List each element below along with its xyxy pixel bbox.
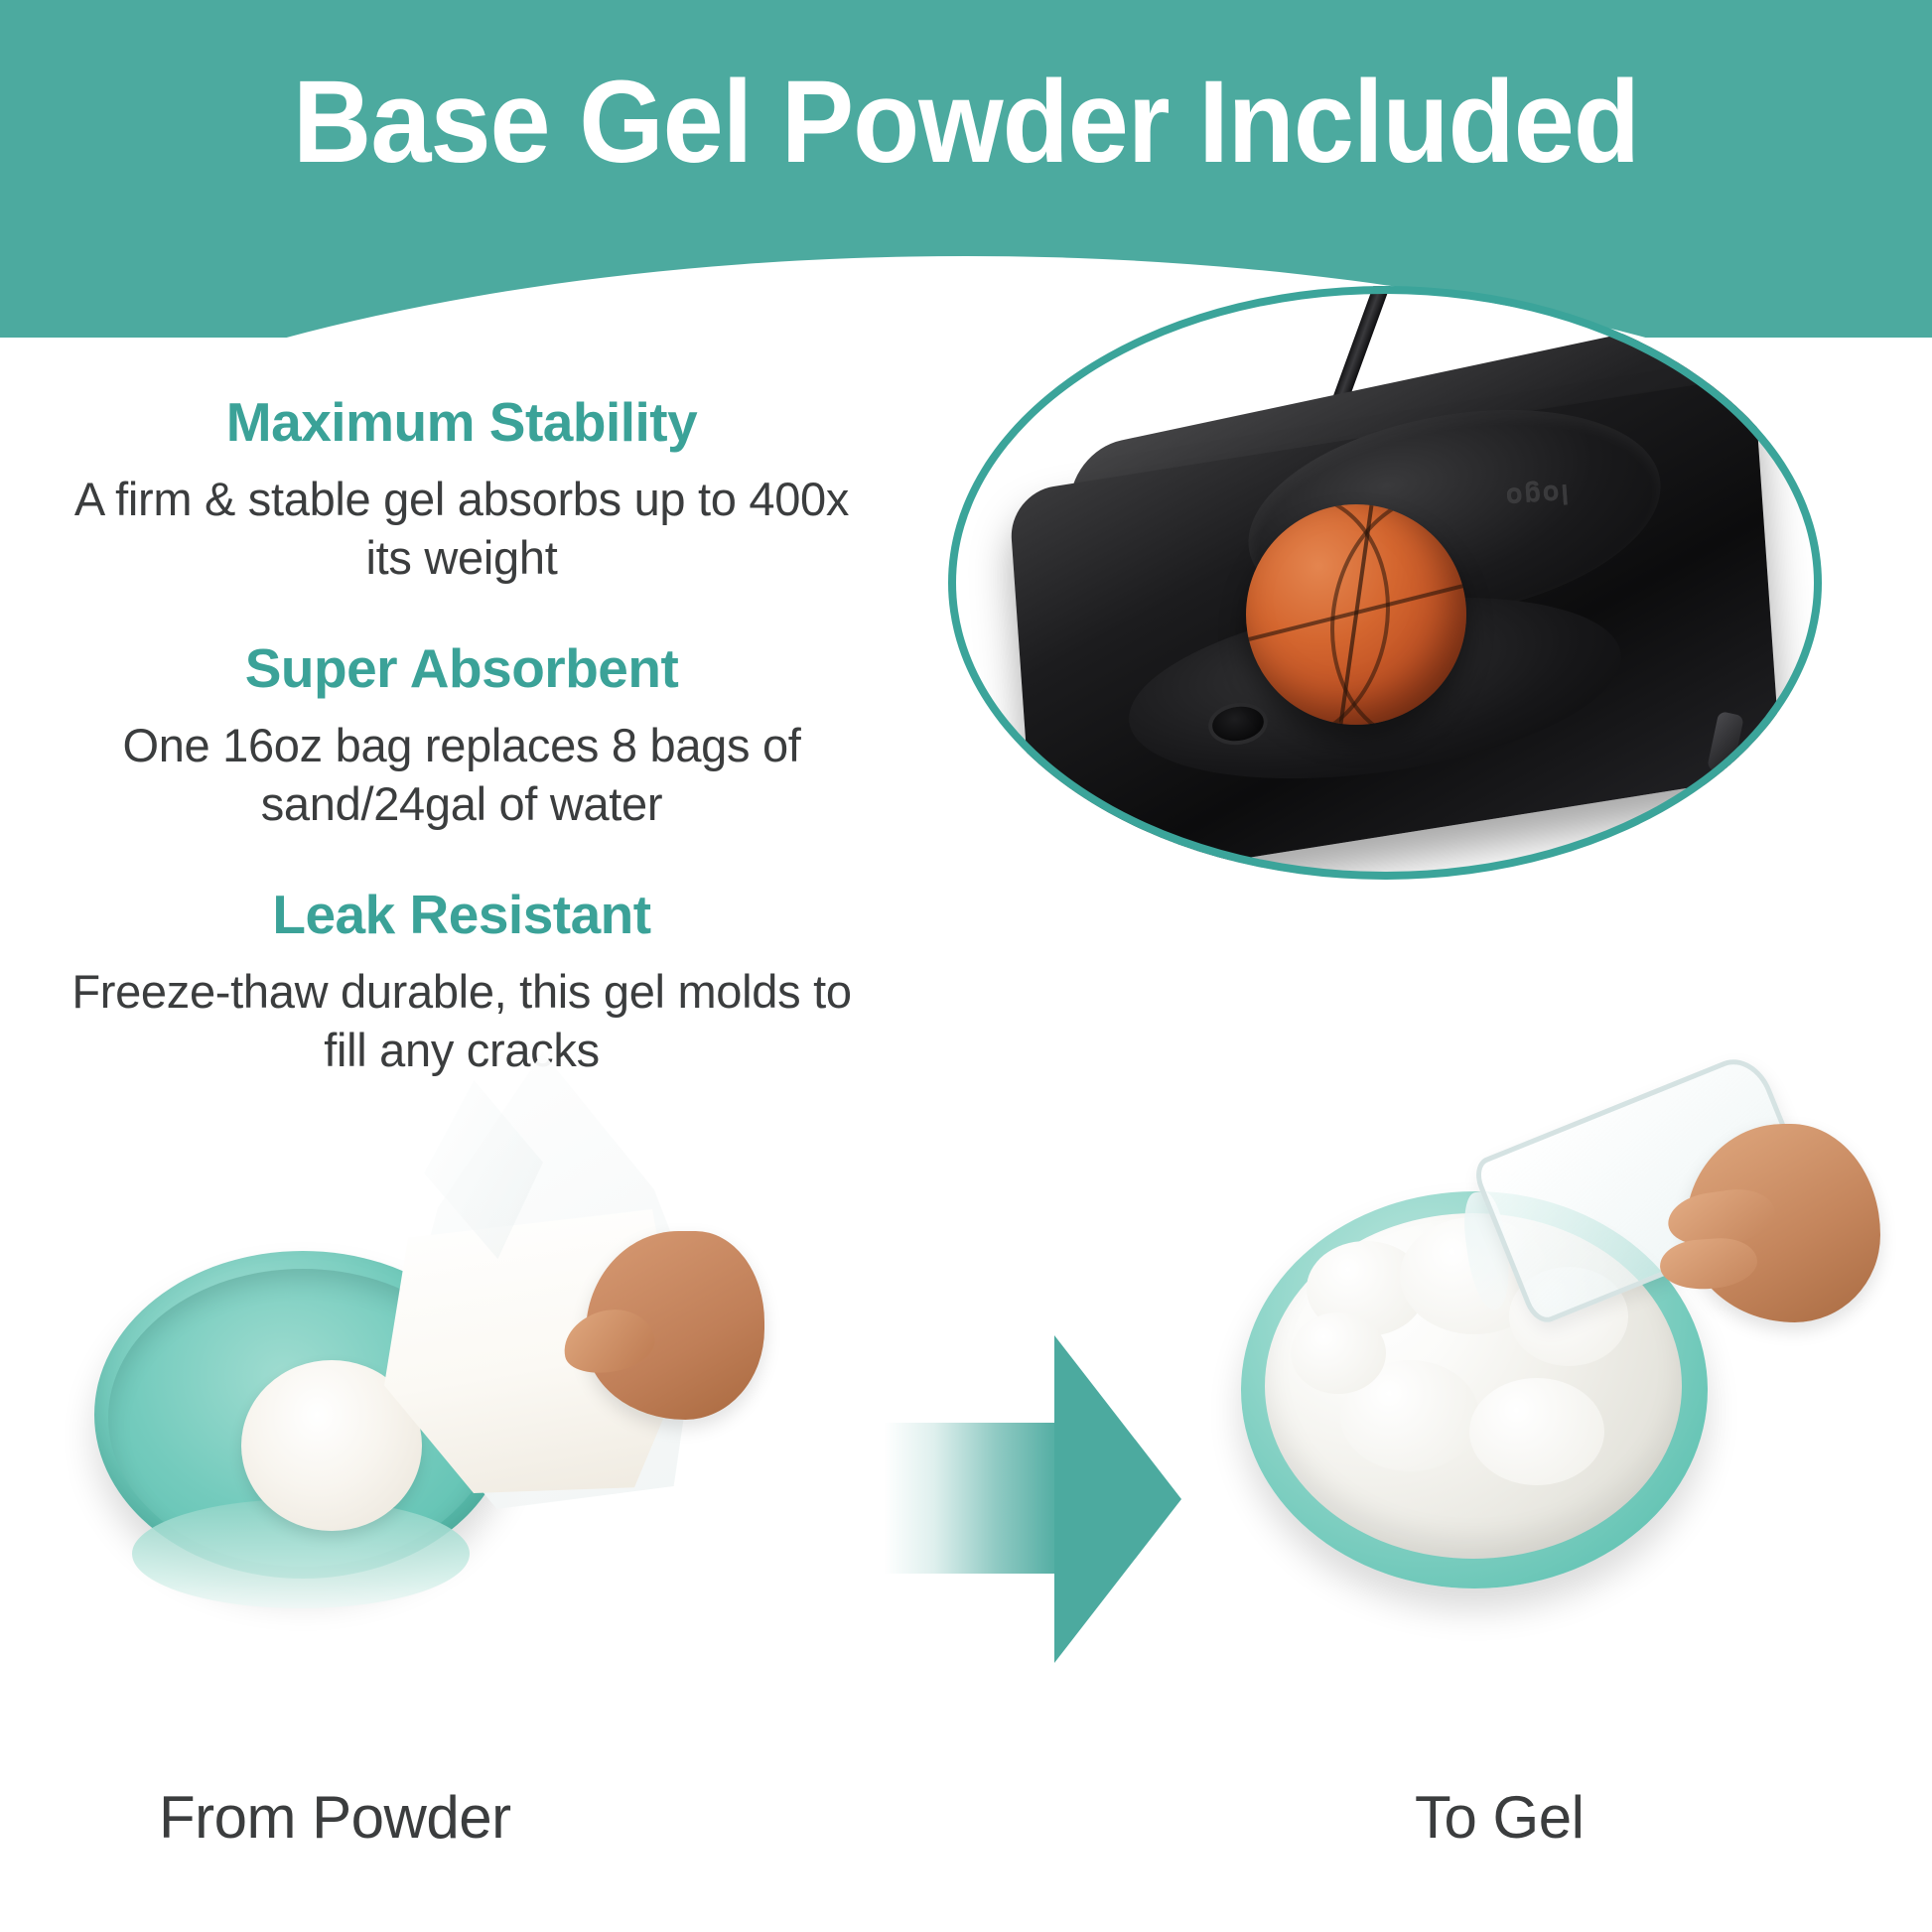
gel-photo: [1231, 1042, 1886, 1628]
powder-photo: [74, 1033, 730, 1628]
gel-lump: [1469, 1378, 1604, 1485]
feature-description: A firm & stable gel absorbs up to 400x i…: [69, 470, 854, 587]
page-title: Base Gel Powder Included: [68, 60, 1864, 186]
arrow-head: [1054, 1335, 1181, 1663]
caption-from-powder: From Powder: [159, 1783, 511, 1852]
caption-to-gel: To Gel: [1415, 1783, 1584, 1852]
infographic-page: Base Gel Powder Included Maximum Stabili…: [0, 0, 1932, 1932]
arrow-shaft: [884, 1423, 1064, 1574]
feature-description: One 16oz bag replaces 8 bags of sand/24g…: [69, 716, 854, 833]
feature-title: Leak Resistant: [69, 885, 854, 946]
feature-item-maximum-stability: Maximum Stability A firm & stable gel ab…: [69, 392, 854, 587]
feature-title: Super Absorbent: [69, 638, 854, 700]
right-arrow-icon: [884, 1335, 1181, 1663]
gel-lump: [1291, 1312, 1386, 1394]
feature-list: Maximum Stability A firm & stable gel ab…: [69, 392, 854, 1079]
feature-item-super-absorbent: Super Absorbent One 16oz bag replaces 8 …: [69, 638, 854, 833]
circle-ring-outline: [948, 286, 1822, 880]
product-photo-circle: logo: [948, 286, 1822, 880]
feature-title: Maximum Stability: [69, 392, 854, 454]
